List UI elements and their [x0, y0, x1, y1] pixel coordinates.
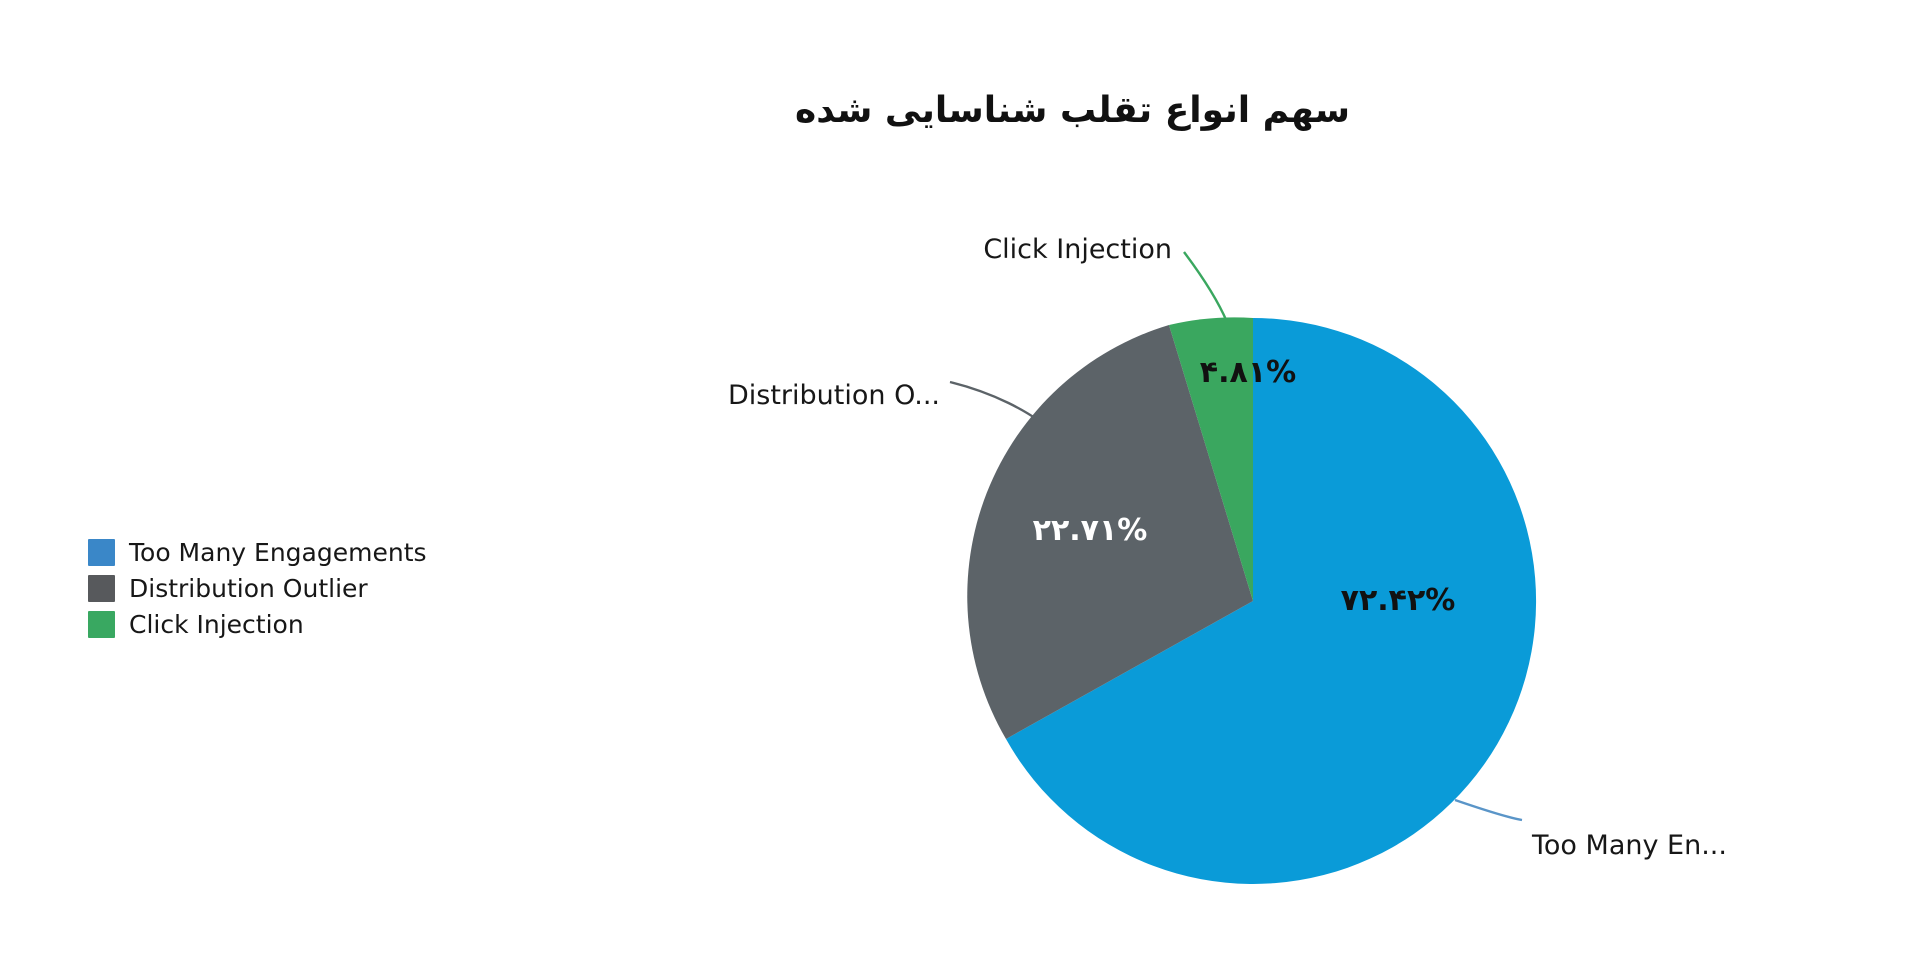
slice-value-distribution-outlier: ۲۲.۷۱%	[1033, 513, 1148, 548]
callout-label-distribution-outlier: Distribution O...	[728, 380, 940, 411]
pie-plot-area: ۷۲.۴۲% ۲۲.۷۱% ۴.۸۱% Click Injection Dist…	[0, 0, 1920, 960]
callout-label-too-many-engagements: Too Many En...	[1531, 830, 1727, 861]
callout-label-click-injection: Click Injection	[983, 234, 1172, 265]
leader-line-too-many-engagements	[1455, 800, 1522, 820]
pie-chart-figure: سهم انواع تقلب شناسایی شده Too Many Enga…	[0, 0, 1920, 960]
slice-value-too-many-engagements: ۷۲.۴۲%	[1341, 583, 1456, 618]
slice-value-click-injection: ۴.۸۱%	[1200, 355, 1296, 390]
leader-line-click-injection	[1184, 252, 1227, 322]
